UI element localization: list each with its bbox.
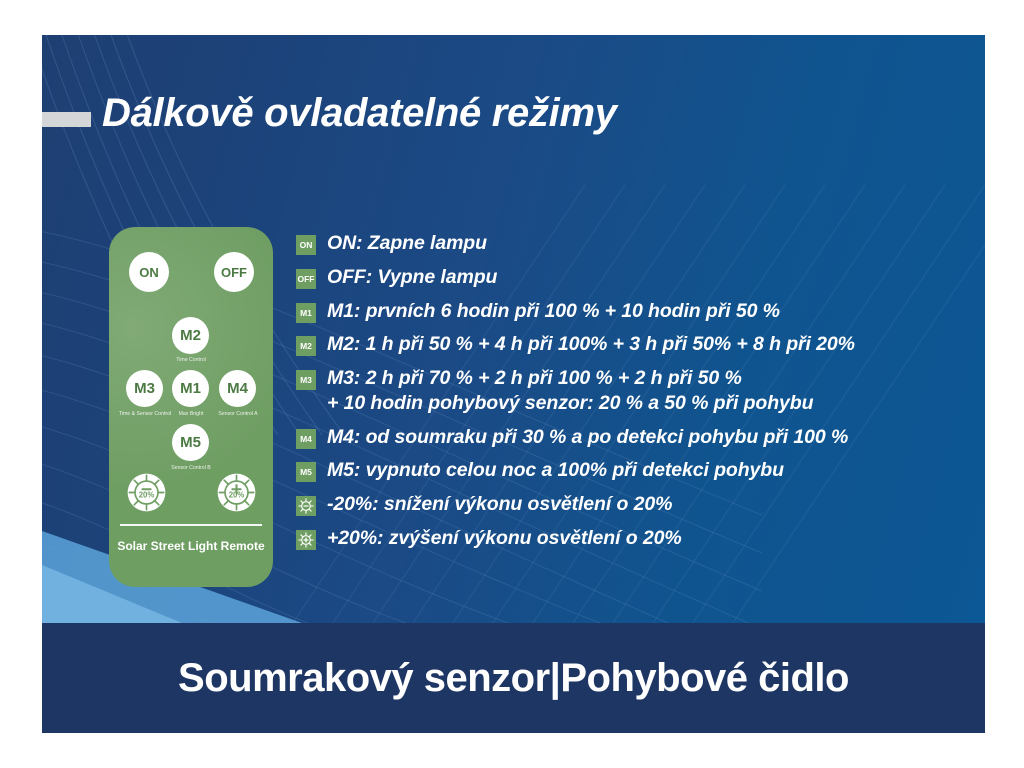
badge-m2: M2 bbox=[296, 336, 316, 356]
footer-band: Soumrakový senzor|Pohybové čidlo bbox=[42, 623, 985, 733]
mode-text-m5: M5: vypnuto celou noc a 100% při detekci… bbox=[327, 458, 784, 483]
list-item: M1 M1: prvních 6 hodin při 100 % + 10 ho… bbox=[296, 299, 985, 324]
remote-dial-plus-icon[interactable]: 20% bbox=[216, 472, 257, 513]
slide-body: Dálkově ovladatelné režimy ON OFF M2 Tim… bbox=[42, 35, 985, 623]
remote-caption-m1: Max Bright bbox=[179, 411, 204, 417]
remote-button-m1-label: M1 bbox=[180, 381, 201, 396]
remote-button-m3-label: M3 bbox=[134, 381, 155, 396]
remote-control-illustration: ON OFF M2 Time Control M3 Time & Sensor … bbox=[109, 227, 273, 587]
list-item: M5 M5: vypnuto celou noc a 100% při dete… bbox=[296, 458, 985, 483]
remote-dial-minus-value: 20% bbox=[139, 490, 155, 499]
badge-m5: M5 bbox=[296, 462, 316, 482]
dial-plus-icon bbox=[296, 530, 316, 550]
list-item: +20%: zvýšení výkonu osvětlení o 20% bbox=[296, 526, 985, 551]
list-item: M2 M2: 1 h při 50 % + 4 h při 100% + 3 h… bbox=[296, 332, 985, 357]
badge-m4: M4 bbox=[296, 429, 316, 449]
mode-text-m1: M1: prvních 6 hodin při 100 % + 10 hodin… bbox=[327, 299, 780, 324]
list-item: OFF OFF: Vypne lampu bbox=[296, 265, 985, 290]
remote-button-m5-label: M5 bbox=[180, 435, 201, 450]
remote-button-on-label: ON bbox=[139, 266, 159, 279]
remote-button-m5[interactable]: M5 bbox=[172, 424, 209, 461]
dial-plus-glyph bbox=[298, 532, 314, 548]
remote-button-m2[interactable]: M2 bbox=[172, 317, 209, 354]
mode-text-m2: M2: 1 h při 50 % + 4 h při 100% + 3 h př… bbox=[327, 332, 855, 357]
remote-button-off-label: OFF bbox=[221, 266, 247, 279]
dial-minus-icon bbox=[296, 496, 316, 516]
footer-text: Soumrakový senzor|Pohybové čidlo bbox=[178, 656, 849, 701]
mode-text-m4: M4: od soumraku při 30 % a po detekci po… bbox=[327, 425, 848, 450]
remote-dial-plus-value: 20% bbox=[229, 490, 245, 499]
remote-button-m2-label: M2 bbox=[180, 328, 201, 343]
remote-caption-m3: Time & Sensor Control bbox=[119, 411, 171, 417]
remote-button-off[interactable]: OFF bbox=[214, 252, 254, 292]
mode-text-m3: M3: 2 h při 70 % + 2 h při 100 % + 2 h p… bbox=[327, 366, 813, 416]
remote-button-m1[interactable]: M1 bbox=[172, 370, 209, 407]
remote-caption-m4: Sensor Control A bbox=[218, 411, 257, 417]
list-item: M4 M4: od soumraku při 30 % a po detekci… bbox=[296, 425, 985, 450]
remote-button-m3[interactable]: M3 bbox=[126, 370, 163, 407]
remote-dial-minus-icon[interactable]: 20% bbox=[126, 472, 167, 513]
remote-product-label: Solar Street Light Remote bbox=[109, 539, 273, 553]
badge-m3: M3 bbox=[296, 370, 316, 390]
modes-list: ON ON: Zapne lampu OFF OFF: Vypne lampu … bbox=[296, 231, 985, 560]
mode-text-on: ON: Zapne lampu bbox=[327, 231, 487, 256]
remote-button-m4-label: M4 bbox=[227, 381, 248, 396]
remote-divider bbox=[120, 524, 262, 526]
badge-m1: M1 bbox=[296, 303, 316, 323]
remote-caption-m5: Sensor Control B bbox=[171, 465, 211, 471]
remote-caption-m2: Time Control bbox=[176, 357, 206, 363]
page-title: Dálkově ovladatelné režimy bbox=[102, 91, 617, 136]
title-accent-bar bbox=[42, 112, 91, 127]
list-item: ON ON: Zapne lampu bbox=[296, 231, 985, 256]
dial-minus-glyph bbox=[298, 498, 314, 514]
mode-text-plus20: +20%: zvýšení výkonu osvětlení o 20% bbox=[327, 526, 682, 551]
slide: Dálkově ovladatelné režimy ON OFF M2 Tim… bbox=[42, 35, 985, 733]
badge-off: OFF bbox=[296, 269, 316, 289]
badge-on: ON bbox=[296, 235, 316, 255]
mode-text-minus20: -20%: snížení výkonu osvětlení o 20% bbox=[327, 492, 672, 517]
list-item: -20%: snížení výkonu osvětlení o 20% bbox=[296, 492, 985, 517]
remote-button-on[interactable]: ON bbox=[129, 252, 169, 292]
list-item: M3 M3: 2 h při 70 % + 2 h při 100 % + 2 … bbox=[296, 366, 985, 416]
mode-text-off: OFF: Vypne lampu bbox=[327, 265, 497, 290]
remote-button-m4[interactable]: M4 bbox=[219, 370, 256, 407]
